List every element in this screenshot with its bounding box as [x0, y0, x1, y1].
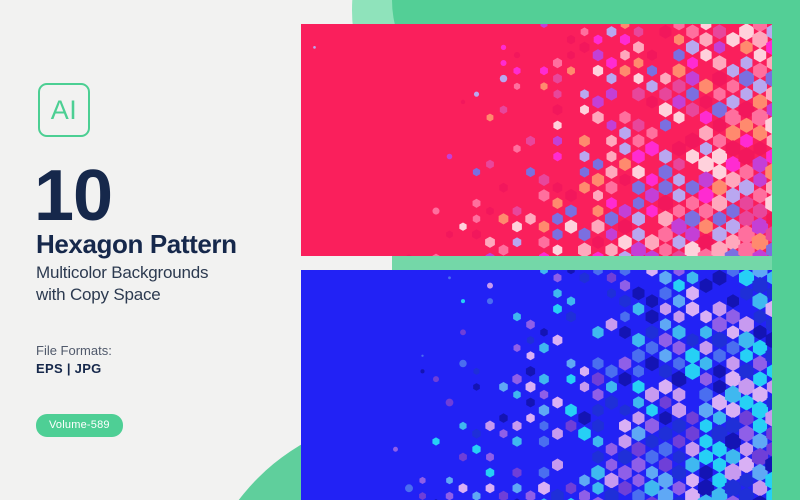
- item-count: 10: [34, 160, 112, 232]
- green-decor-right-strip: [772, 0, 800, 500]
- file-formats-value: EPS | JPG: [36, 361, 102, 376]
- page-subtitle: Multicolor Backgrounds with Copy Space: [36, 262, 286, 306]
- ai-badge-label: AI: [51, 95, 78, 126]
- adobe-illustrator-icon: AI: [38, 83, 90, 137]
- pink-hexagon-preview: [301, 24, 772, 256]
- volume-badge: Volume-589: [36, 414, 123, 437]
- pink-hexagon-pattern: [301, 24, 772, 256]
- subtitle-line-2: with Copy Space: [36, 284, 286, 306]
- file-formats-label: File Formats:: [36, 343, 112, 358]
- blue-hexagon-preview: [301, 270, 772, 500]
- page-title: Hexagon Pattern: [36, 231, 237, 257]
- poster-canvas: AI 10 Hexagon Pattern Multicolor Backgro…: [0, 0, 800, 500]
- info-column: AI 10 Hexagon Pattern Multicolor Backgro…: [0, 0, 300, 500]
- blue-hexagon-pattern: [301, 270, 772, 500]
- subtitle-line-1: Multicolor Backgrounds: [36, 262, 286, 284]
